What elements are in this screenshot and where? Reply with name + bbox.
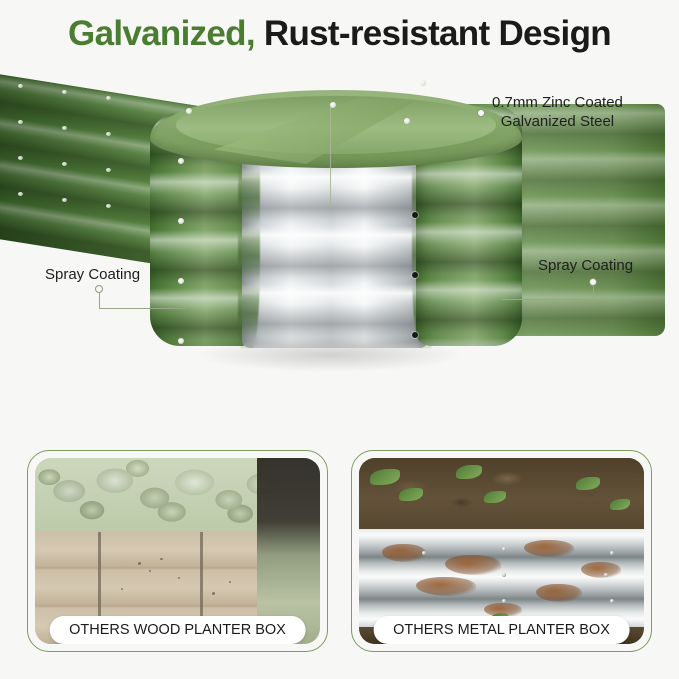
page-title: Galvanized, Rust-resistant Design: [0, 10, 679, 58]
wood-planter-caption: OTHERS WOOD PLANTER BOX: [49, 616, 306, 644]
material-leader-dot: [477, 109, 485, 117]
back-wall-screw: [106, 132, 111, 136]
spray-coating-right-label: Spray Coating: [538, 256, 633, 275]
back-wall-screw: [106, 96, 111, 100]
wood-photo-speck: [178, 577, 180, 579]
metal-photo-rivet: [422, 551, 426, 555]
back-wall-screw: [62, 198, 67, 202]
metal-photo-rivet: [502, 573, 506, 577]
spray-right-leader-vertical: [593, 286, 594, 300]
metal-photo-rivet: [502, 599, 506, 603]
rim-screw: [404, 118, 410, 124]
back-wall-screw: [106, 168, 111, 172]
back-wall-screw: [62, 126, 67, 130]
spray-left-leader-dot: [95, 285, 103, 293]
back-wall-screw: [18, 156, 23, 160]
back-wall-screw: [106, 204, 111, 208]
spray-right-leader-horizontal: [502, 299, 594, 300]
wood-photo-speck: [212, 592, 215, 595]
material-leader-line: [398, 113, 478, 114]
spray-left-leader-vertical: [99, 293, 100, 309]
rim-screw: [330, 102, 336, 108]
wood-photo-speck: [138, 562, 141, 565]
metal-planter-photo: OTHERS METAL PLANTER BOX: [359, 458, 644, 644]
material-callout-line1: 0.7mm Zinc Coated: [492, 93, 623, 112]
back-wall-screw: [62, 162, 67, 166]
title-highlight: Galvanized,: [68, 14, 255, 53]
rust-stain: [382, 544, 426, 562]
infographic-page: Galvanized, Rust-resistant Design: [0, 0, 679, 679]
wood-planter-photo: OTHERS WOOD PLANTER BOX: [35, 458, 320, 644]
wood-photo-speck: [121, 588, 123, 590]
wood-photo-speck: [229, 581, 231, 583]
back-wall-screw: [62, 90, 67, 94]
material-callout-needle: [330, 106, 331, 212]
seam-screw: [412, 332, 418, 338]
wood-photo-post: [200, 532, 203, 629]
seam-screw: [178, 338, 184, 344]
spray-coating-left-label: Spray Coating: [45, 265, 140, 284]
rim-screw: [420, 80, 426, 86]
back-wall-screw: [18, 84, 23, 88]
metal-photo-rivet: [502, 547, 506, 551]
metal-planter-caption: OTHERS METAL PLANTER BOX: [373, 616, 630, 644]
material-callout-line2: Galvanized Steel: [492, 112, 623, 131]
material-callout-label: 0.7mm Zinc Coated Galvanized Steel: [492, 93, 623, 131]
back-wall-screw: [18, 120, 23, 124]
seam-screw: [412, 212, 418, 218]
spray-right-leader-dot: [589, 278, 597, 286]
seam-screw: [178, 278, 184, 284]
title-rest: Rust-resistant Design: [255, 14, 611, 53]
planter-ground-shadow: [196, 338, 464, 372]
rim-screw: [186, 108, 192, 114]
rust-stain: [524, 540, 574, 557]
metal-photo-rivet: [610, 551, 614, 555]
spray-left-leader-horizontal: [99, 308, 185, 309]
comparison-card-metal: OTHERS METAL PLANTER BOX: [351, 450, 652, 652]
seam-screw: [178, 158, 184, 164]
wood-photo-speck: [149, 570, 151, 572]
back-wall-screw: [18, 192, 23, 196]
comparison-card-wood: OTHERS WOOD PLANTER BOX: [27, 450, 328, 652]
seam-screw: [178, 218, 184, 224]
seam-screw: [412, 272, 418, 278]
